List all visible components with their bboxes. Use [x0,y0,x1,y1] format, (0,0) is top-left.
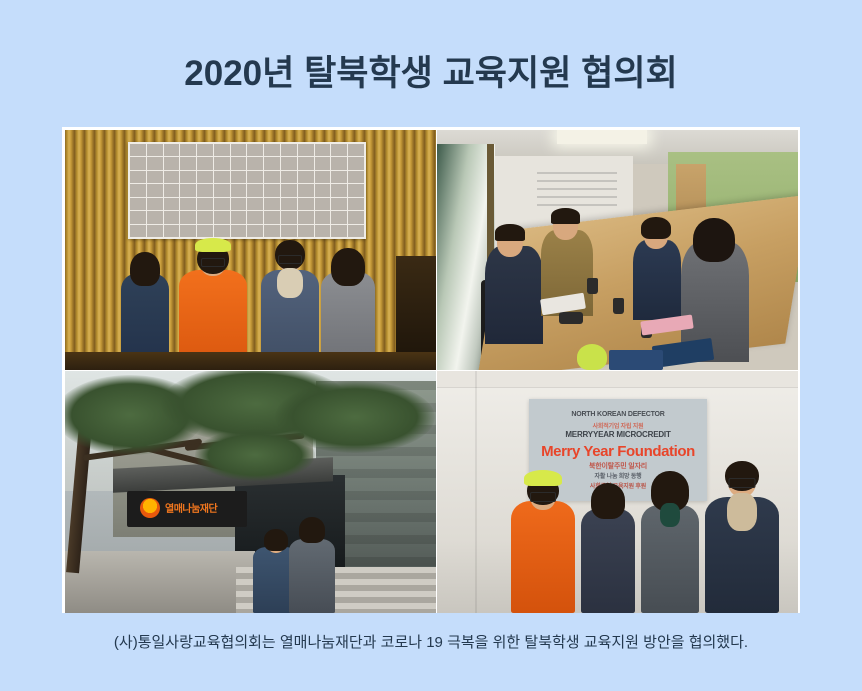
wordcloud-line: NORTH KOREAN DEFECTOR [529,411,707,418]
presentation-slide: 2020년 탈북학생 교육지원 협의회 [0,0,862,691]
stone-wall [65,551,255,613]
person-figure [121,242,169,370]
foundation-logo-icon [140,498,160,518]
wooden-cabinet [396,256,436,360]
person-figure [705,455,779,613]
person-figure [261,234,319,370]
person-figure [581,473,635,613]
wordcloud-line: 사회적기업 자립 지원 [529,421,707,430]
photo-collage-board [128,142,366,239]
person-figure [511,461,575,613]
coffee-cup [613,298,624,314]
green-bag [577,344,607,370]
slide-caption: (사)통일사랑교육협의회는 열매나눔재단과 코로나 19 극복을 위한 탈북학생… [0,632,862,654]
wall-lettering [537,172,617,210]
photo-top-left [65,130,436,370]
photo-bottom-right: NORTH KOREAN DEFECTOR 사회적기업 자립 지원 MERRYY… [437,371,798,613]
wordcloud-line: MERRYYEAR MICROCREDIT [529,430,707,439]
page-title: 2020년 탈북학생 교육지원 협의회 [0,52,862,96]
photo-grid: 열매나눔재단 [62,127,800,613]
pine-tree-foliage [195,429,315,481]
photo-bottom-left: 열매나눔재단 [65,371,436,613]
person-figure [289,517,335,613]
ceiling [437,371,798,388]
foundation-sign: 열매나눔재단 [127,491,247,527]
foundation-sign-text: 열매나눔재단 [165,500,217,515]
person-figure [485,224,543,344]
person-figure [179,230,247,370]
person-figure [633,218,681,322]
coffee-cup [587,278,598,294]
photo-top-right [437,130,798,370]
floor-line [65,352,436,370]
coffee-cup [559,312,583,324]
notebook [609,350,663,370]
person-figure [641,465,699,613]
wall-corner [475,371,477,613]
person-figure [321,240,375,370]
ceiling-light [557,130,647,144]
wordcloud-title: Merry Year Foundation [529,443,707,460]
